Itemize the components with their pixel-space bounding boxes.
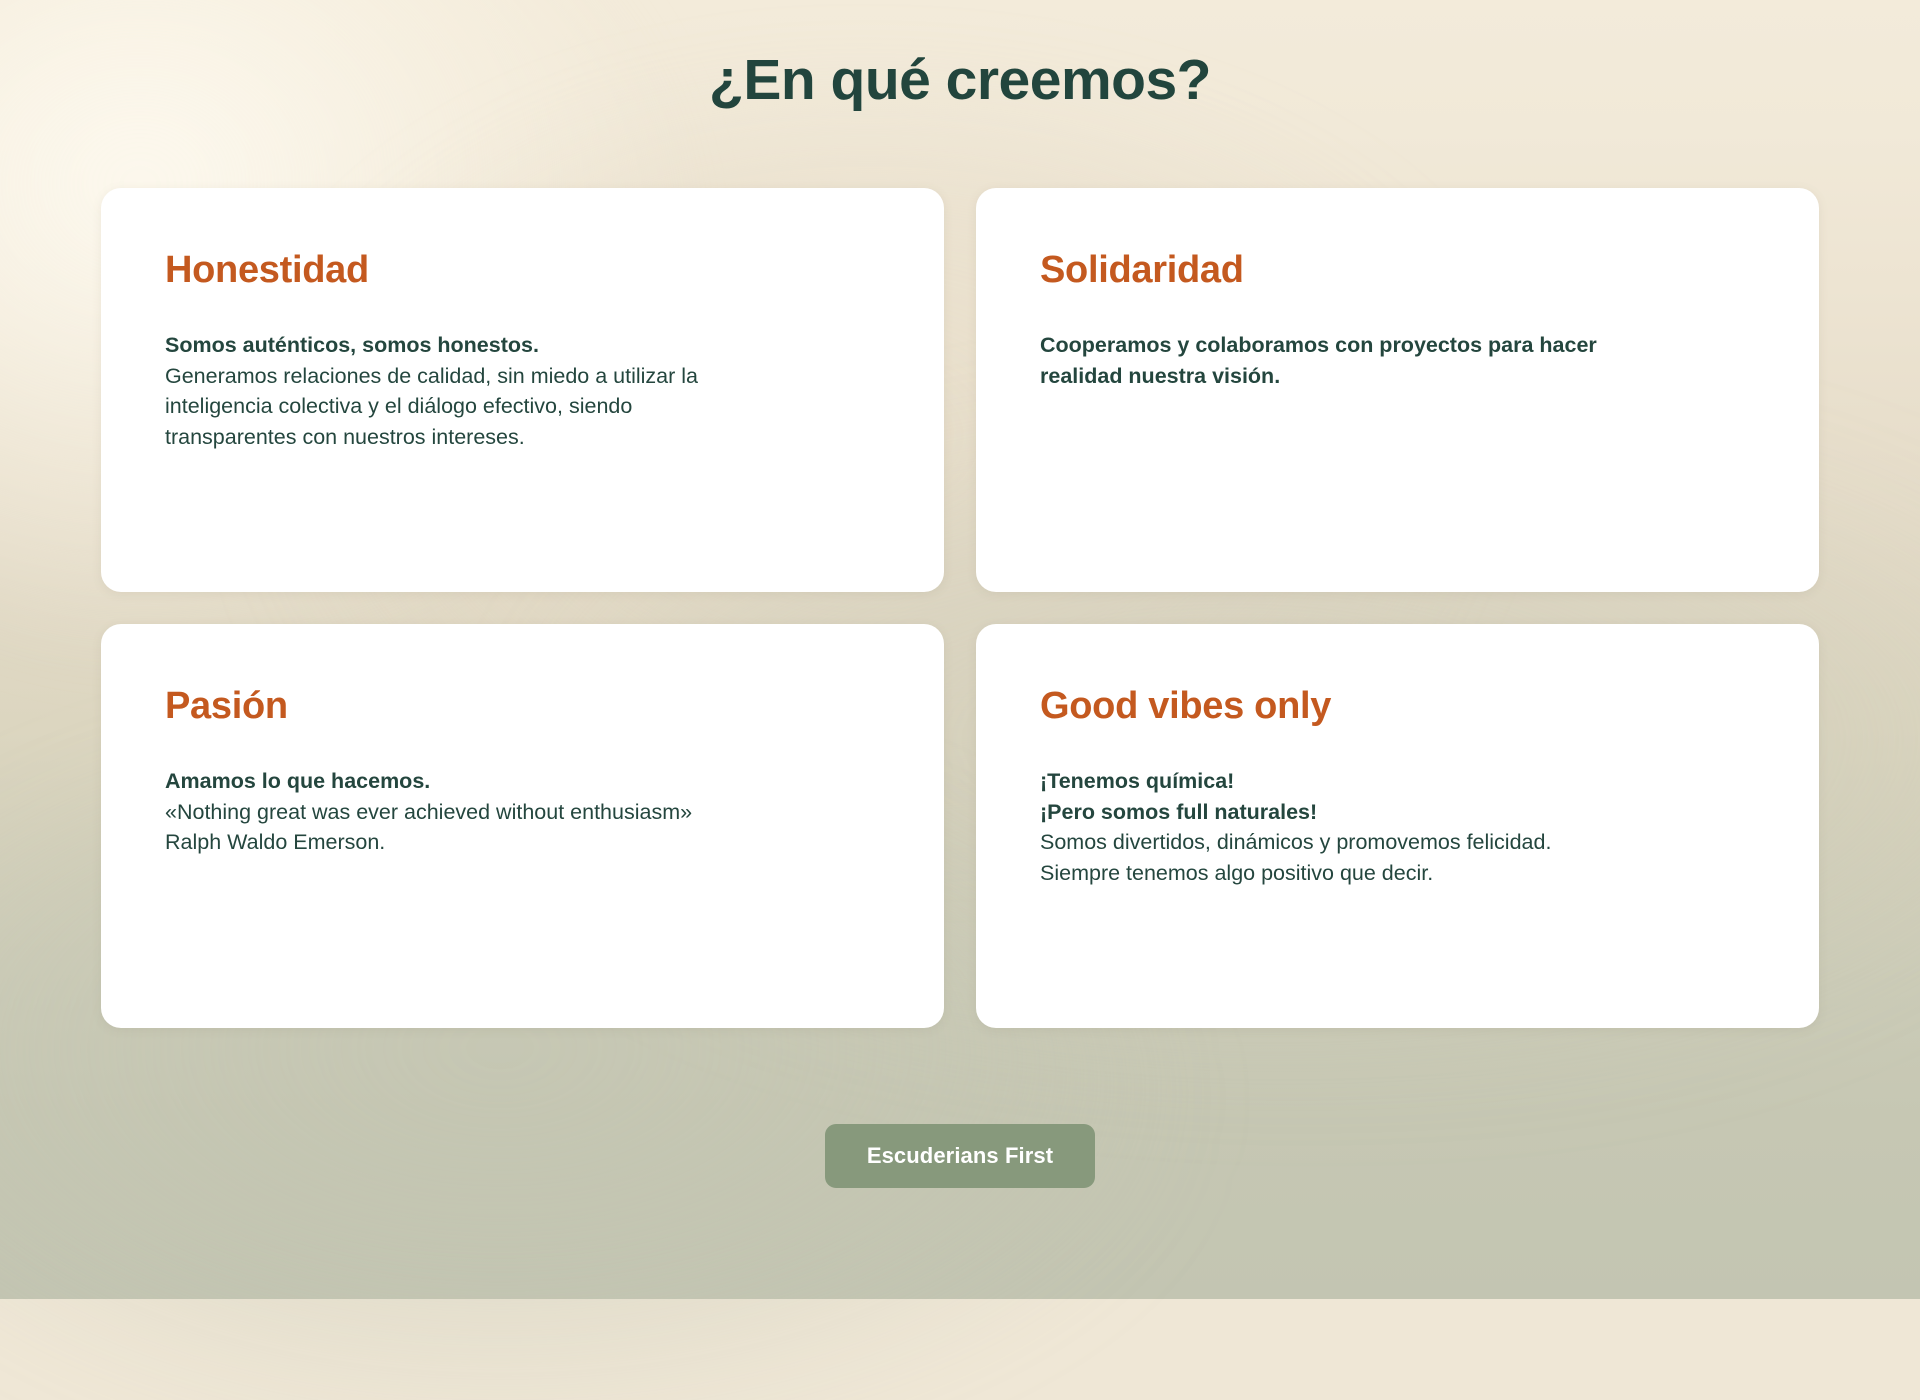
value-card-body-line: Generamos relaciones de calidad, sin mie… xyxy=(165,361,880,392)
value-card-pasion: PasiónAmamos lo que hacemos.«Nothing gre… xyxy=(101,624,944,1028)
value-card-solidaridad: SolidaridadCooperamos y colaboramos con … xyxy=(976,188,1819,592)
value-card-body: Amamos lo que hacemos.«Nothing great was… xyxy=(165,766,880,858)
value-card-title: Pasión xyxy=(165,686,880,728)
value-card-body-line: ¡Tenemos química! xyxy=(1040,766,1755,797)
value-card-honestidad: HonestidadSomos auténticos, somos honest… xyxy=(101,188,944,592)
value-card-body-line: Siempre tenemos algo positivo que decir. xyxy=(1040,858,1755,889)
value-card-title: Solidaridad xyxy=(1040,250,1755,292)
value-card-body-line: inteligencia colectiva y el diálogo efec… xyxy=(165,391,880,422)
value-card-body-line: Ralph Waldo Emerson. xyxy=(165,827,880,858)
value-card-body: ¡Tenemos química!¡Pero somos full natura… xyxy=(1040,766,1755,889)
value-card-body-line: Cooperamos y colaboramos con proyectos p… xyxy=(1040,330,1755,361)
value-card-body-line: «Nothing great was ever achieved without… xyxy=(165,797,880,828)
value-card-good-vibes-only: Good vibes only¡Tenemos química!¡Pero so… xyxy=(976,624,1819,1028)
values-section: ¿En qué creemos? HonestidadSomos auténti… xyxy=(0,0,1920,1299)
page-title: ¿En qué creemos? xyxy=(0,48,1920,114)
value-card-body-line: Somos divertidos, dinámicos y promovemos… xyxy=(1040,827,1755,858)
value-card-body: Cooperamos y colaboramos con proyectos p… xyxy=(1040,330,1755,391)
value-card-title: Good vibes only xyxy=(1040,686,1755,728)
escuderians-first-button[interactable]: Escuderians First xyxy=(825,1124,1095,1188)
value-card-body-line: Somos auténticos, somos honestos. xyxy=(165,330,880,361)
value-card-body-line: realidad nuestra visión. xyxy=(1040,361,1755,392)
value-card-body-line: ¡Pero somos full naturales! xyxy=(1040,797,1755,828)
value-card-body-line: Amamos lo que hacemos. xyxy=(165,766,880,797)
value-card-title: Honestidad xyxy=(165,250,880,292)
value-card-body-line: transparentes con nuestros intereses. xyxy=(165,422,880,453)
value-card-body: Somos auténticos, somos honestos.Generam… xyxy=(165,330,880,453)
values-card-grid: HonestidadSomos auténticos, somos honest… xyxy=(101,188,1819,1028)
cta-container: Escuderians First xyxy=(0,1124,1920,1188)
